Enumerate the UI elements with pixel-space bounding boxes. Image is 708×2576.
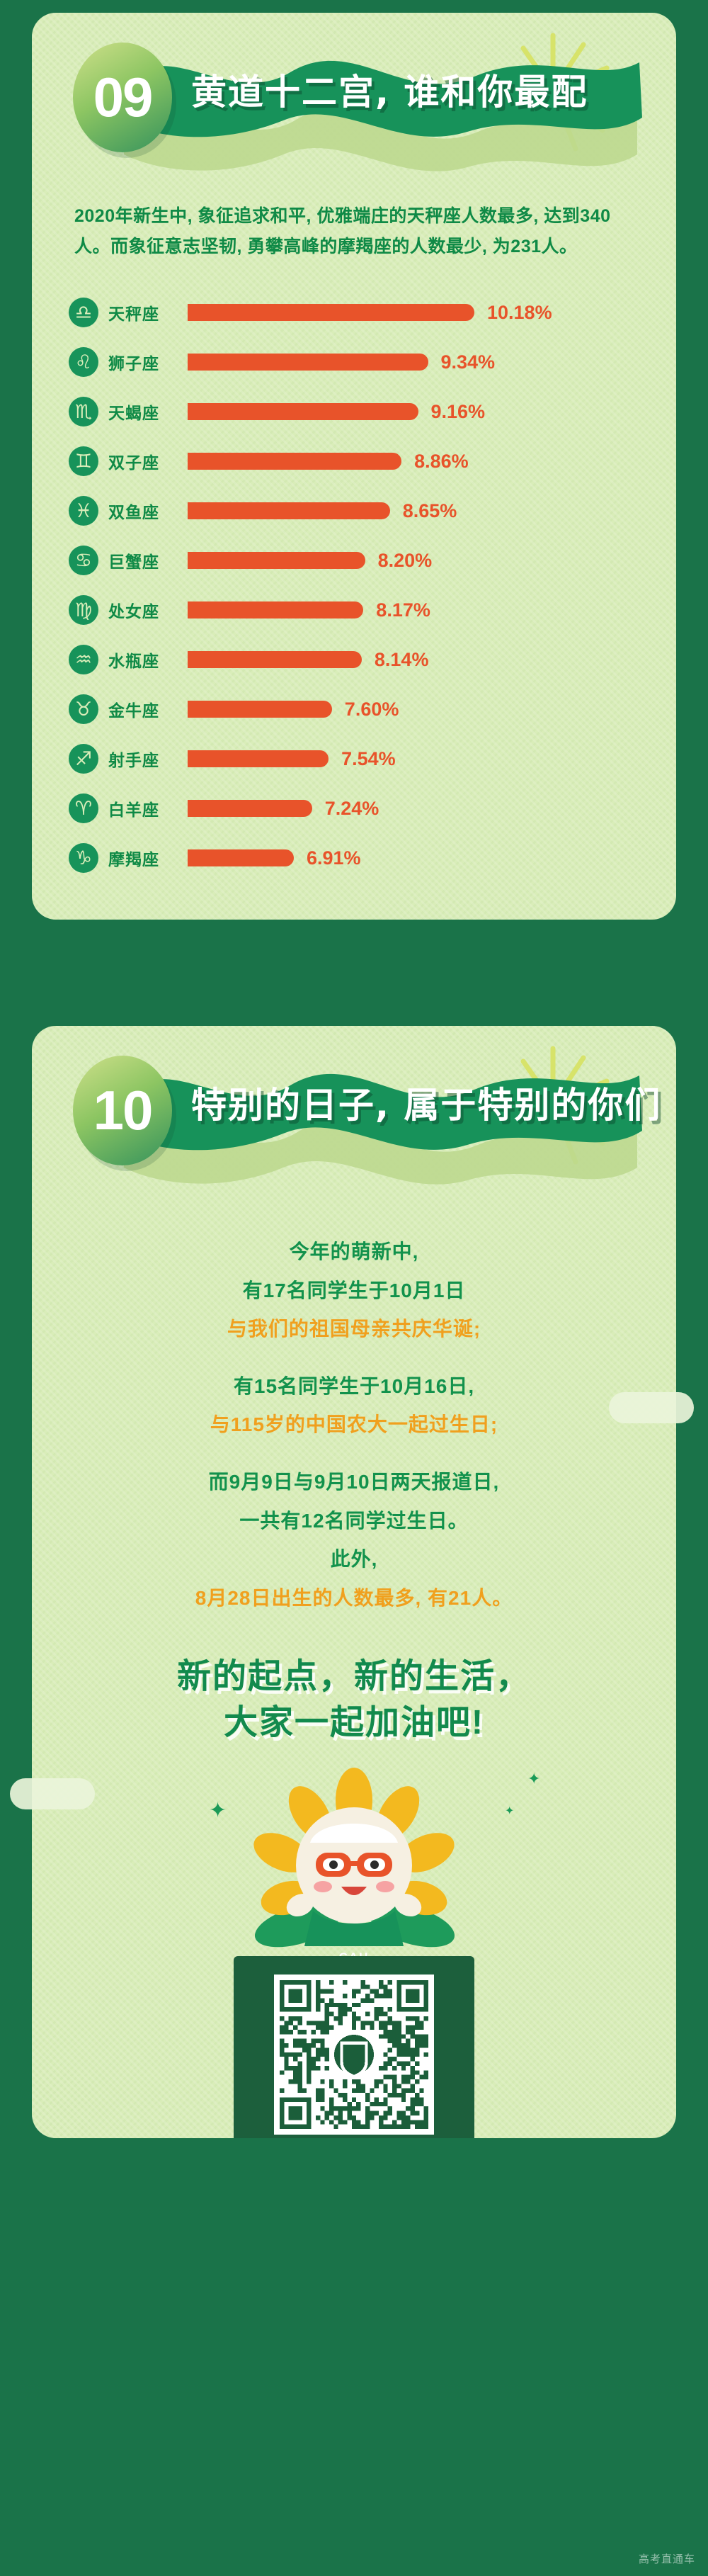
chart-row: ♈白羊座7.24% (69, 784, 641, 833)
virgo-icon: ♍ (69, 595, 98, 625)
chart-category-label: 天蝎座 (108, 400, 188, 424)
chart-bar-area: 8.86% (188, 451, 641, 473)
taurus-icon: ♉ (69, 694, 98, 724)
libra-icon: ♎ (69, 298, 98, 327)
chart-bar-area: 9.34% (188, 351, 641, 373)
chart-row: ♐射手座7.54% (69, 734, 641, 784)
section-card-days: 10 特别的日子, 属于特别的你们 今年的萌新中,有17名同学生于10月1日与我… (32, 1026, 676, 2138)
chart-row: ♍处女座8.17% (69, 585, 641, 635)
chart-value-label: 7.54% (341, 748, 396, 770)
chart-row: ♎天秤座10.18% (69, 288, 641, 337)
chart-bar-area: 8.17% (188, 599, 641, 621)
days-line: 一共有12名同学过生日。 (32, 1502, 676, 1541)
days-line-highlight: 与我们的祖国母亲共庆华诞; (32, 1310, 676, 1349)
chart-bar (188, 701, 332, 718)
chart-value-label: 10.18% (487, 302, 552, 324)
section-intro-09: 2020年新生中, 象征追求和平, 优雅端庄的天秤座人数最多, 达到340人。而… (74, 201, 634, 262)
chart-bar (188, 601, 363, 618)
sparkle-icon: ✦ (505, 1804, 514, 1818)
chart-bar-area: 8.65% (188, 500, 641, 522)
chart-category-label: 天秤座 (108, 300, 188, 324)
chart-value-label: 9.16% (431, 401, 486, 423)
chart-value-label: 7.60% (345, 699, 399, 721)
chart-value-label: 8.65% (403, 500, 457, 522)
chart-bar (188, 800, 312, 817)
chart-bar (188, 453, 401, 470)
days-line: 此外, (32, 1540, 676, 1579)
chart-bar-area: 6.91% (188, 847, 641, 869)
watermark-label: 高考直通车 (639, 2551, 695, 2566)
aries-icon: ♈ (69, 793, 98, 823)
section-number-10: 10 (93, 1078, 152, 1143)
chart-row: ♊双子座8.86% (69, 436, 641, 486)
page-background: 09 黄道十二宫, 谁和你最配 2020年新生中, 象征追求和平, 优雅端庄的天… (0, 0, 708, 2576)
days-line-highlight: 与115岁的中国农大一起过生日; (32, 1406, 676, 1445)
chart-bar (188, 403, 418, 420)
chart-category-label: 金牛座 (108, 697, 188, 721)
qr-code-image (280, 1980, 428, 2129)
chart-value-label: 8.17% (376, 599, 430, 621)
chart-category-label: 白羊座 (108, 796, 188, 820)
chart-category-label: 水瓶座 (108, 648, 188, 672)
section-title-10: 特别的日子, 属于特别的你们 (191, 1077, 661, 1128)
chart-bar-area: 10.18% (188, 302, 641, 324)
chart-value-label: 7.24% (325, 798, 379, 820)
slogan-line-2: 大家一起加油吧! (32, 1700, 676, 1746)
gemini-icon: ♊ (69, 446, 98, 476)
chart-category-label: 双子座 (108, 449, 188, 473)
chart-bar-area: 7.60% (188, 699, 641, 721)
chart-bar (188, 651, 362, 668)
chart-row: ♏天蝎座9.16% (69, 387, 641, 436)
mascot-illustration: CAU (32, 1759, 676, 1972)
section-header-09: 09 黄道十二宫, 谁和你最配 (32, 13, 676, 190)
chart-category-label: 狮子座 (108, 350, 188, 374)
aquarius-icon: ♒ (69, 645, 98, 674)
pisces-icon: ♓ (69, 496, 98, 526)
section-header-10: 10 特别的日子, 属于特别的你们 (32, 1026, 676, 1203)
section-card-zodiac: 09 黄道十二宫, 谁和你最配 2020年新生中, 象征追求和平, 优雅端庄的天… (32, 13, 676, 920)
chart-bar-area: 8.20% (188, 550, 641, 572)
chart-category-label: 摩羯座 (108, 846, 188, 870)
chart-category-label: 射手座 (108, 747, 188, 771)
days-text-block: 今年的萌新中,有17名同学生于10月1日与我们的祖国母亲共庆华诞;有15名同学生… (32, 1233, 676, 1617)
chart-bar (188, 304, 474, 321)
chart-row: ♓双鱼座8.65% (69, 486, 641, 536)
chart-bar-area: 7.54% (188, 748, 641, 770)
chart-value-label: 8.86% (414, 451, 469, 473)
days-line: 今年的萌新中, (32, 1233, 676, 1272)
chart-bar (188, 502, 390, 519)
days-line: 有15名同学生于10月16日, (32, 1367, 676, 1406)
sparkle-icon: ✦ (527, 1770, 540, 1788)
days-line: 而9月9日与9月10日两天报道日, (32, 1463, 676, 1502)
slogan-line-1: 新的起点，新的生活， (32, 1654, 676, 1700)
sagittarius-icon: ♐ (69, 744, 98, 774)
leo-icon: ♌ (69, 347, 98, 377)
chart-row: ♉金牛座7.60% (69, 684, 641, 734)
days-line: 有17名同学生于10月1日 (32, 1272, 676, 1311)
section-title-09: 黄道十二宫, 谁和你最配 (191, 64, 588, 115)
chart-bar (188, 849, 294, 866)
chart-row: ♋巨蟹座8.20% (69, 536, 641, 585)
qr-code[interactable] (274, 1975, 434, 2135)
cancer-icon: ♋ (69, 546, 98, 575)
chart-category-label: 双鱼座 (108, 499, 188, 523)
sparkle-icon: ✦ (209, 1798, 227, 1823)
chart-value-label: 8.20% (378, 550, 433, 572)
chart-bar-area: 9.16% (188, 401, 641, 423)
zodiac-bar-chart: ♎天秤座10.18%♌狮子座9.34%♏天蝎座9.16%♊双子座8.86%♓双鱼… (32, 288, 676, 883)
closing-slogan: 新的起点，新的生活， 大家一起加油吧! (32, 1654, 676, 1746)
qr-card[interactable]: 中国农业大学 招办微信号 (234, 1956, 474, 2138)
chart-row: ♒水瓶座8.14% (69, 635, 641, 684)
days-line-highlight: 8月28日出生的人数最多, 有21人。 (32, 1579, 676, 1618)
chart-value-label: 8.14% (375, 649, 429, 671)
chart-bar (188, 552, 365, 569)
chart-bar-area: 7.24% (188, 798, 641, 820)
chart-row: ♌狮子座9.34% (69, 337, 641, 387)
chart-bar-area: 8.14% (188, 649, 641, 671)
chart-category-label: 处女座 (108, 598, 188, 622)
scorpio-icon: ♏ (69, 397, 98, 426)
chart-bar (188, 750, 329, 767)
chart-value-label: 9.34% (441, 351, 496, 373)
section-number-09: 09 (93, 65, 152, 130)
chart-category-label: 巨蟹座 (108, 548, 188, 572)
section-number-badge-09: 09 (73, 43, 172, 152)
capricorn-icon: ♑ (69, 843, 98, 873)
chart-bar (188, 354, 428, 371)
chart-row: ♑摩羯座6.91% (69, 833, 641, 883)
section-number-badge-10: 10 (73, 1056, 172, 1165)
sunflower-mascot-icon (191, 1759, 517, 1972)
chart-value-label: 6.91% (307, 847, 361, 869)
